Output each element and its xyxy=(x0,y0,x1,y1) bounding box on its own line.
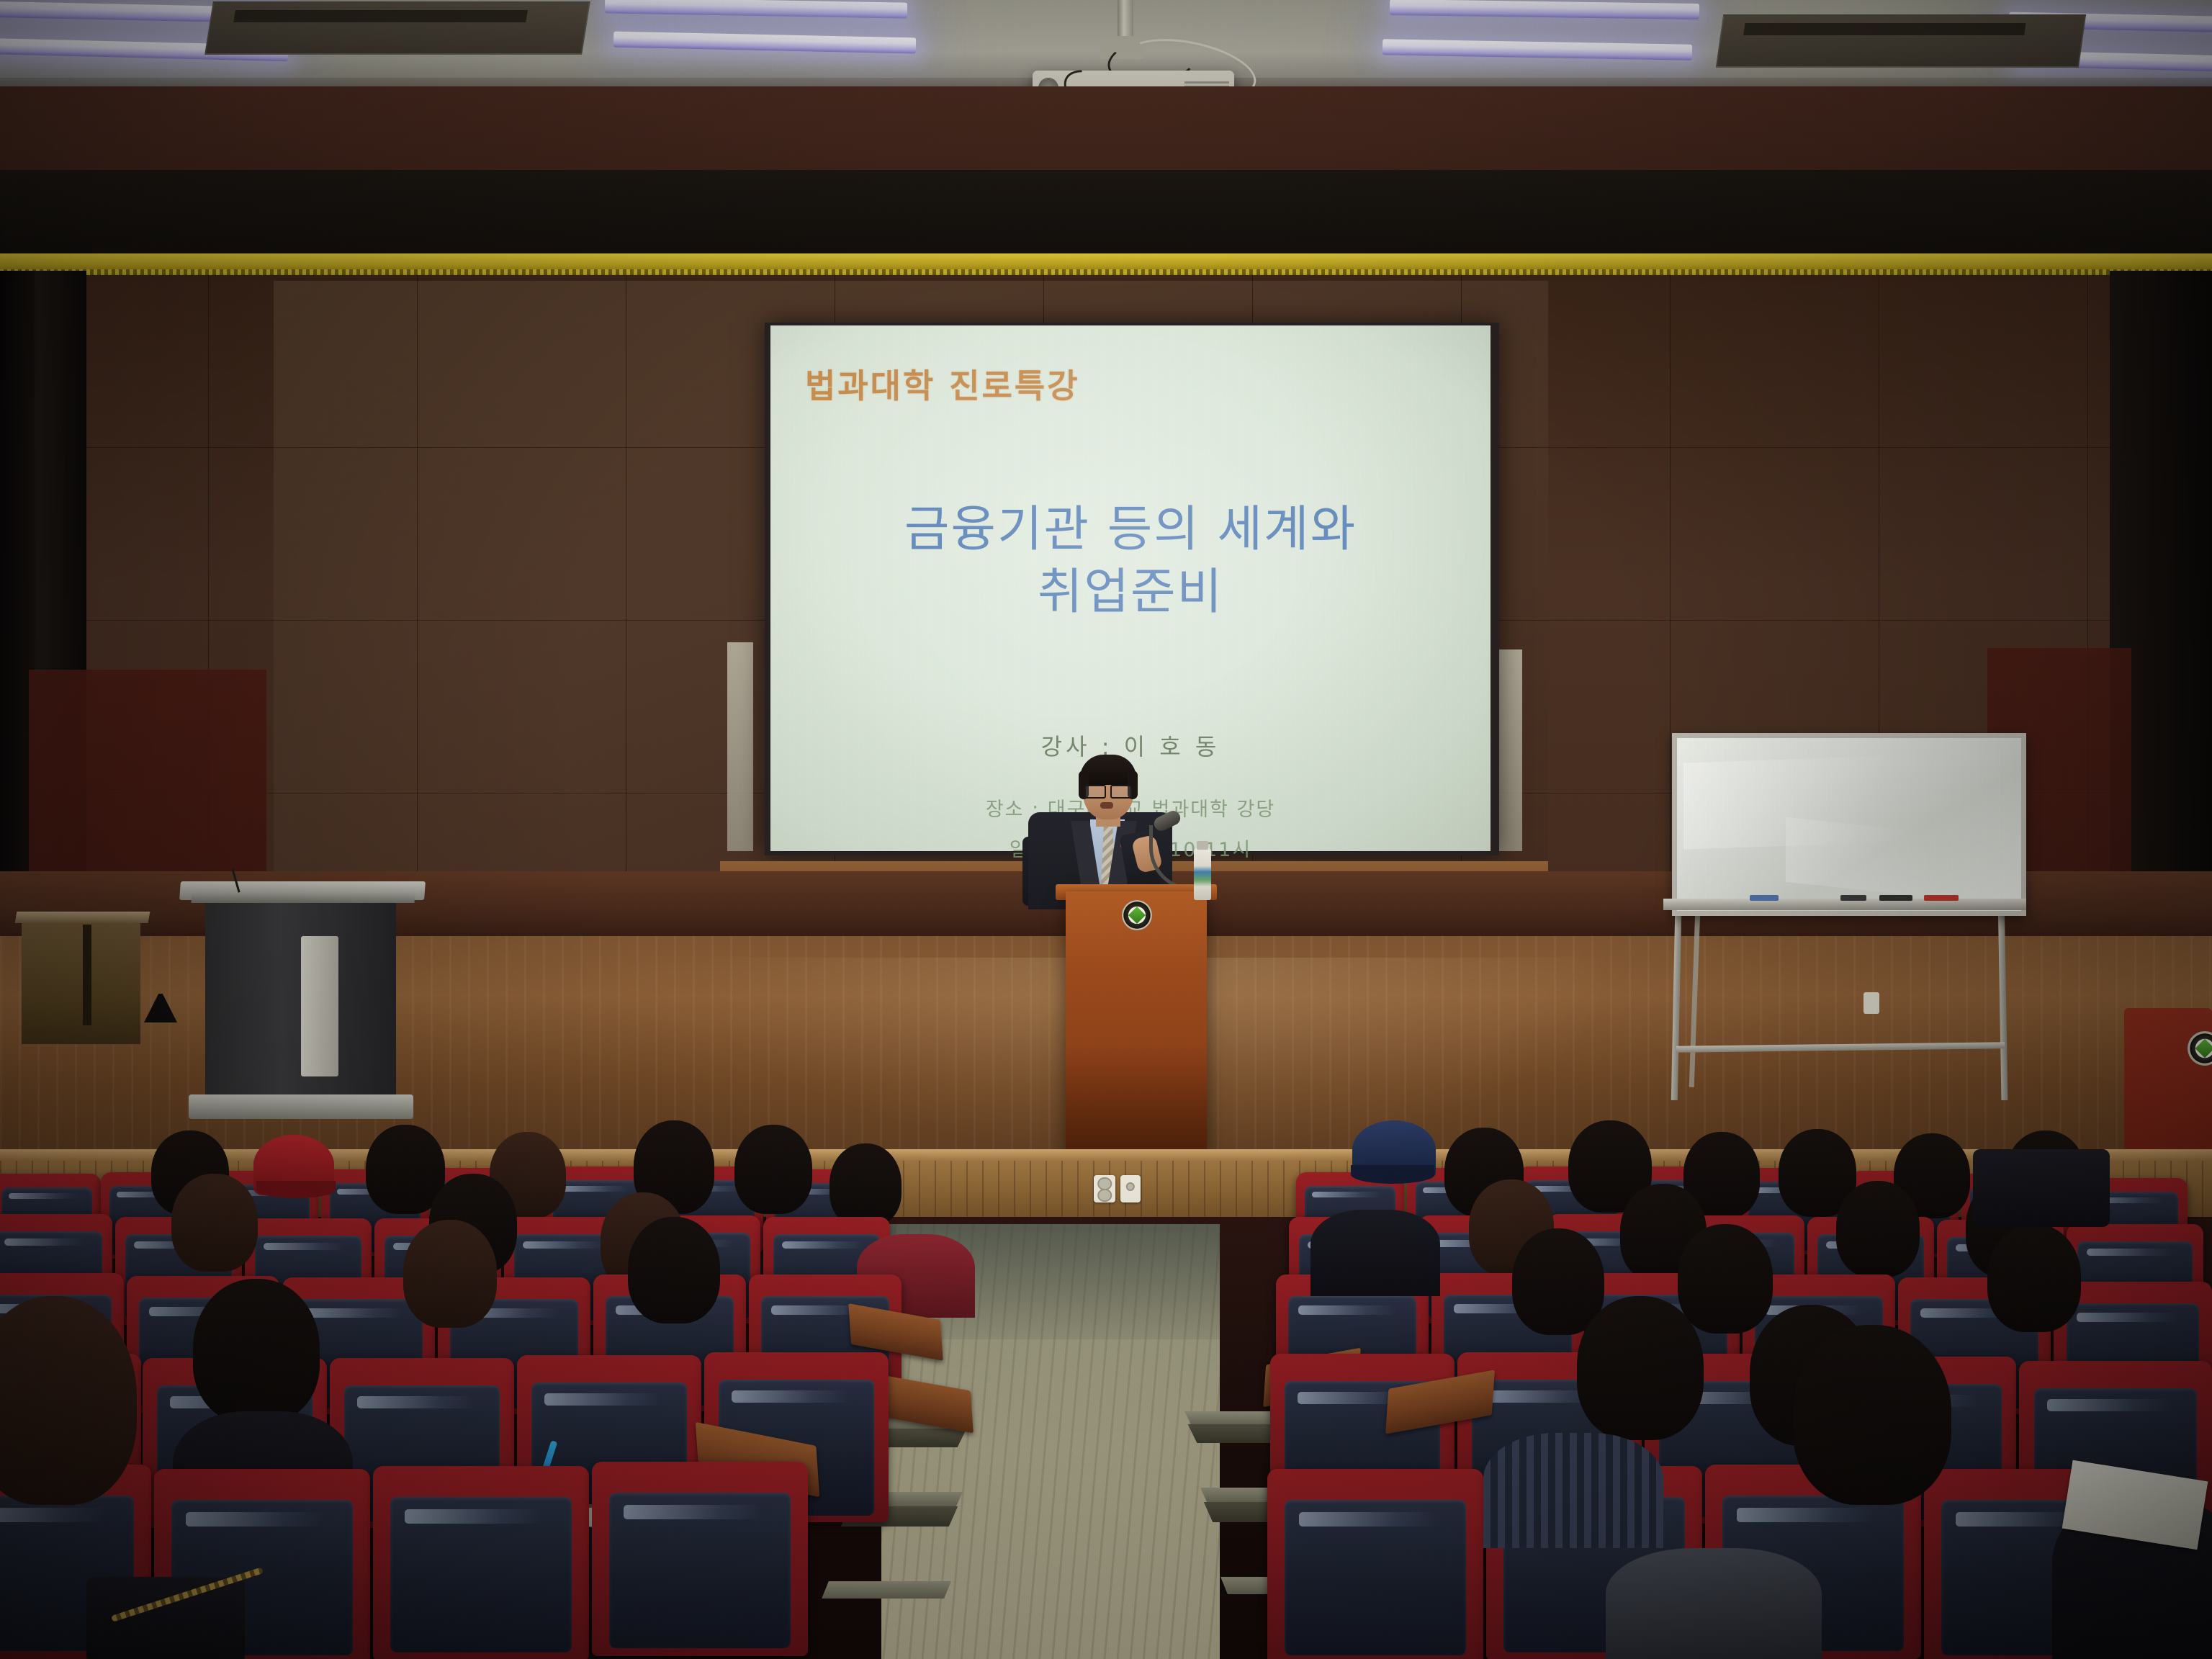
student-head xyxy=(171,1174,258,1272)
university-emblem xyxy=(1122,900,1152,930)
whiteboard-eraser[interactable] xyxy=(1879,895,1912,901)
student-head xyxy=(1577,1296,1704,1440)
auditorium-seat[interactable] xyxy=(1267,1469,1483,1659)
side-table-top xyxy=(15,912,150,923)
speaker-mouth xyxy=(1100,802,1113,809)
slide-header: 법과대학 진로특강 xyxy=(805,360,1080,408)
student-head xyxy=(193,1279,320,1423)
whiteboard-marker[interactable] xyxy=(1750,895,1779,901)
auditorium-photo: 법과대학 진로특강 금융기관 등의 세계와 취업준비 강사 : 이 호 동 장소… xyxy=(0,0,2212,1659)
student-head xyxy=(1987,1224,2081,1332)
aisle-step xyxy=(822,1581,951,1599)
slide-title-line-2: 취업준비 xyxy=(770,561,1491,624)
student-head xyxy=(628,1217,720,1323)
slide-speaker-line: 강사 : 이 호 동 xyxy=(770,729,1491,762)
wall-outlet-behind-whiteboard[interactable] xyxy=(1863,992,1879,1014)
lectern-front-panel xyxy=(301,936,338,1076)
cap-brim xyxy=(1351,1165,1434,1184)
handbag[interactable] xyxy=(86,1577,245,1659)
podium-shading xyxy=(1066,1044,1207,1151)
side-table xyxy=(22,918,140,1044)
student-head xyxy=(403,1220,497,1328)
auditorium-seat[interactable] xyxy=(592,1462,808,1656)
water-bottle-cap xyxy=(1197,841,1208,850)
water-bottle[interactable] xyxy=(1194,848,1211,900)
student-head xyxy=(734,1125,812,1214)
whiteboard-marker-red[interactable] xyxy=(1924,895,1959,901)
student-backpack[interactable] xyxy=(1973,1149,2110,1227)
student-head xyxy=(1836,1181,1920,1277)
student-head xyxy=(1678,1224,1773,1334)
wall-outlet[interactable] xyxy=(1094,1175,1115,1202)
student-head xyxy=(1793,1325,1951,1505)
cap-brim xyxy=(256,1181,336,1198)
wall-switch-plate[interactable] xyxy=(1120,1175,1141,1202)
student-shoulders xyxy=(1310,1210,1440,1296)
glasses-icon xyxy=(1084,785,1132,796)
hvac-vent xyxy=(1716,14,2086,68)
student-head xyxy=(829,1143,902,1227)
student-head xyxy=(1512,1228,1604,1335)
slide-title: 금융기관 등의 세계와 취업준비 xyxy=(770,498,1491,624)
student-plaid-shirt xyxy=(1483,1433,1663,1548)
student-shoulders xyxy=(1606,1548,1822,1659)
whiteboard-marker[interactable] xyxy=(1840,895,1866,901)
lectern-base xyxy=(189,1094,413,1119)
hvac-vent xyxy=(204,1,590,55)
wall-light-strip-left xyxy=(727,642,753,851)
lectern-desktop-edge xyxy=(191,891,415,903)
auditorium-seat[interactable] xyxy=(373,1466,589,1659)
slide-title-line-1: 금융기관 등의 세계와 xyxy=(770,498,1491,561)
side-table-gap xyxy=(83,925,91,1025)
